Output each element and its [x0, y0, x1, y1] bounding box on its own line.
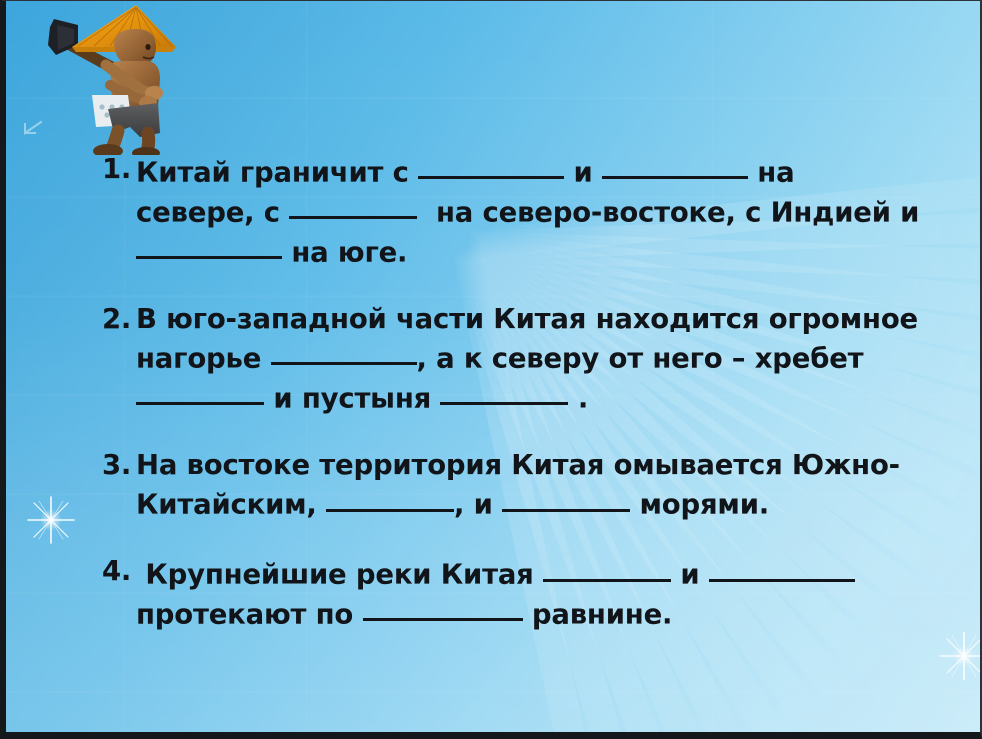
question-text: Крупнейшие реки Китая и протекают по рав… — [136, 553, 962, 633]
question-item: 1.Китай граничит с и насевере, с на севе… — [102, 151, 962, 271]
answer-blank[interactable] — [709, 553, 855, 581]
question-line: и пустыня . — [136, 377, 962, 417]
text-segment: на северо-востоке, с Индией и — [417, 196, 919, 228]
text-segment: Крупнейшие реки Китая — [136, 559, 543, 591]
answer-blank[interactable] — [363, 593, 523, 621]
question-line: на юге. — [136, 231, 962, 271]
text-segment: . — [568, 382, 588, 414]
question-line: нагорье , а к северу от него – хребет — [136, 337, 962, 377]
text-segment: , и — [454, 489, 502, 521]
answer-blank[interactable] — [136, 231, 282, 259]
text-segment: Китай граничит с — [136, 156, 418, 188]
question-number: 4. — [102, 553, 136, 590]
text-segment: протекают по — [136, 598, 363, 630]
answer-blank[interactable] — [271, 337, 417, 365]
answer-blank[interactable] — [502, 483, 630, 511]
answer-blank[interactable] — [418, 151, 564, 179]
text-segment: На востоке территория Китая омывается Юж… — [136, 449, 900, 481]
question-text: Китай граничит с и насевере, с на северо… — [136, 151, 962, 271]
question-list: 1.Китай граничит с и насевере, с на севе… — [102, 151, 962, 663]
question-line: На востоке территория Китая омывается Юж… — [136, 447, 962, 484]
text-segment: , а к северу от него – хребет — [417, 342, 864, 374]
question-item: 2.В юго-западной части Китая находится о… — [102, 301, 962, 417]
question-number: 3. — [102, 447, 136, 484]
question-item: 3.На востоке территория Китая омывается … — [102, 447, 962, 523]
answer-blank[interactable] — [136, 377, 264, 405]
presentation-slide: 1.Китай граничит с и насевере, с на севе… — [0, 0, 982, 739]
question-line: протекают по равнине. — [136, 593, 962, 633]
text-segment: равнине. — [523, 598, 673, 630]
question-line: Крупнейшие реки Китая и — [136, 553, 962, 593]
question-item: 4. Крупнейшие реки Китая и протекают по … — [102, 553, 962, 633]
text-segment: и — [671, 559, 709, 591]
answer-blank[interactable] — [440, 377, 568, 405]
answer-blank[interactable] — [289, 191, 417, 219]
text-segment: на юге. — [282, 236, 407, 268]
text-segment: нагорье — [136, 342, 271, 374]
text-segment: В юго-западной части Китая находится огр… — [136, 303, 918, 335]
answer-blank[interactable] — [602, 151, 748, 179]
question-text: На востоке территория Китая омывается Юж… — [136, 447, 962, 523]
text-segment: и — [564, 156, 602, 188]
question-number: 2. — [102, 301, 136, 338]
question-line: севере, с на северо-востоке, с Индией и — [136, 191, 962, 231]
answer-blank[interactable] — [543, 553, 671, 581]
question-line: Китайским, , и морями. — [136, 483, 962, 523]
question-line: В юго-западной части Китая находится огр… — [136, 301, 962, 338]
question-line: Китай граничит с и на — [136, 151, 962, 191]
text-segment: на — [748, 156, 795, 188]
text-segment: Китайским, — [136, 489, 326, 521]
chinese-peasant-clipart — [44, 3, 184, 155]
question-text: В юго-западной части Китая находится огр… — [136, 301, 962, 417]
answer-blank[interactable] — [326, 483, 454, 511]
question-number: 1. — [102, 151, 136, 188]
text-segment: и пустыня — [264, 382, 440, 414]
text-segment: морями. — [630, 489, 769, 521]
chevron-left-decoration-icon — [19, 119, 45, 145]
text-segment: севере, с — [136, 196, 289, 228]
